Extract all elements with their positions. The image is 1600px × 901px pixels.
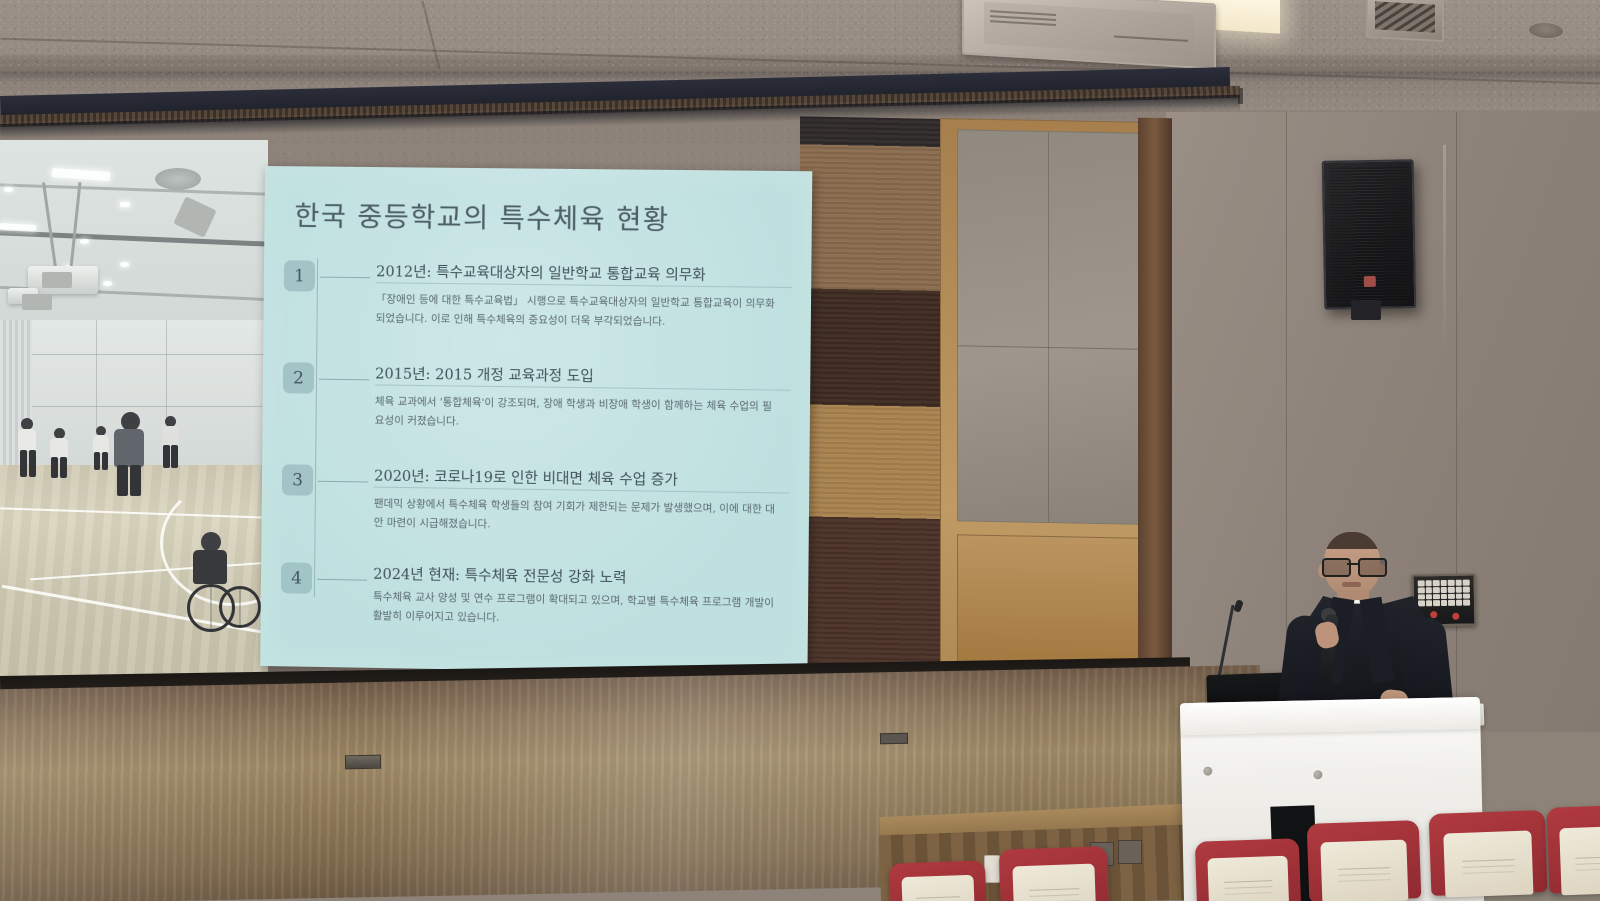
acoustic-panel: [957, 129, 1139, 524]
gym-spot-light: [80, 239, 89, 244]
acoustic-panel-frame: [940, 118, 1152, 679]
gym-student: [92, 426, 112, 470]
wheelchair-wheel: [219, 586, 261, 628]
timeline-axis: [314, 259, 318, 597]
wheelchair-user-head: [201, 532, 221, 552]
student-torso: [162, 426, 179, 446]
student-leg: [94, 452, 100, 470]
timeline-body-3: 팬데믹 상황에서 특수체육 학생들의 참여 기회가 제한되는 문제가 발생했으며…: [374, 495, 780, 540]
auditorium-seat[interactable]: [1547, 804, 1600, 893]
wall-cable: [1443, 145, 1446, 345]
seat-backrest[interactable]: [999, 846, 1109, 901]
glasses-lens: [1358, 558, 1387, 577]
student-torso: [93, 435, 109, 453]
projected-slide: 한국 중등학교의 특수체육 현황 1 2012년: 특수교육대상자의 일반학교 …: [260, 166, 812, 675]
glasses-lens: [1322, 558, 1351, 577]
control-button[interactable]: [1463, 586, 1470, 592]
timeline-body-4: 특수체육 교사 양성 및 연수 프로그램이 확대되고 있으며, 학교별 특수체육…: [373, 588, 779, 634]
seat-cushion[interactable]: [1208, 855, 1289, 901]
timeline-connector: [320, 277, 370, 279]
seat-backrest[interactable]: [1307, 820, 1422, 901]
gym-wall-seam: [30, 354, 268, 355]
stage-floor-plate: [345, 755, 381, 770]
student-leg: [60, 457, 67, 478]
auditorium-seat[interactable]: [999, 846, 1109, 901]
seat-cushion[interactable]: [1321, 839, 1408, 901]
glasses-bridge: [1347, 563, 1358, 565]
gym-student: [160, 416, 182, 468]
timeline-item: 2 2015년: 2015 개정 교육과정 도입 체육 교과에서 '통합체육'이…: [283, 362, 787, 368]
seat-cushion[interactable]: [1559, 825, 1600, 895]
stage-floor-plate: [880, 733, 908, 744]
gym-wall-seam: [30, 406, 268, 407]
student-leg: [163, 445, 170, 468]
control-button[interactable]: [1463, 593, 1470, 599]
timeline-item: 3 2020년: 코로나19로 인한 비대면 체육 수업 증가 팬데믹 상황에서…: [282, 464, 786, 471]
timeline-heading-4: 2024년 현재: 특수체육 전문성 강화 노력: [373, 563, 627, 588]
teacher-leg: [117, 465, 128, 496]
timeline-badge-1: 1: [284, 260, 315, 291]
podium-fastener: [1313, 770, 1322, 779]
timeline-body-1: 「장애인 등에 대한 특수교육법」 시행으로 특수교육대상자의 일반학교 통합교…: [376, 290, 782, 334]
podium-fastener: [1203, 767, 1212, 776]
floor-power-outlet: [984, 855, 1000, 883]
seat-backrest[interactable]: [1195, 838, 1301, 901]
timeline-connector: [318, 481, 368, 483]
student-leg: [51, 457, 58, 478]
student-torso: [50, 438, 68, 458]
wood-trim-strip: [1138, 118, 1172, 679]
ac-inner-panel: [984, 2, 1194, 56]
seat-backrest[interactable]: [889, 860, 987, 901]
timeline-body-2: 체육 교과에서 '통합체육'이 강조되며, 장애 학생과 비장애 학생이 함께하…: [375, 392, 781, 436]
student-leg: [20, 450, 27, 477]
panel-base: [957, 534, 1139, 669]
stage-wall-box: [1118, 840, 1142, 864]
gym-spot-light: [120, 262, 129, 267]
gym-student: [48, 428, 72, 478]
gym-ceiling-light: [120, 202, 130, 207]
timeline-item: 1 2012년: 특수교육대상자의 일반학교 통합교육 의무화 「장애인 등에 …: [284, 260, 788, 266]
timeline-badge-3: 3: [282, 464, 313, 495]
student-leg: [102, 452, 108, 470]
speaker-logo: [1364, 276, 1376, 287]
loudspeaker: [1322, 159, 1417, 310]
gym-ceiling-projector: [8, 288, 38, 304]
slide-title: 한국 중등학교의 특수체육 현황: [294, 194, 669, 237]
ceiling-vent: [1366, 0, 1444, 42]
timeline-heading-1: 2012년: 특수교육대상자의 일반학교 통합교육 의무화: [376, 260, 706, 285]
eyeglasses-icon: [1322, 558, 1383, 573]
timeline-heading-2: 2015년: 2015 개정 교육과정 도입: [375, 362, 594, 386]
control-button[interactable]: [1463, 600, 1470, 606]
auditorium-seat[interactable]: [1307, 820, 1422, 901]
control-button[interactable]: [1463, 580, 1470, 586]
timeline-connector: [319, 379, 369, 381]
seat-cushion[interactable]: [901, 875, 976, 901]
gym-ceiling-projector: [28, 266, 98, 294]
seat-backrest[interactable]: [1547, 804, 1600, 893]
gymnasium-photo-projection: [0, 140, 268, 680]
timeline-connector: [317, 579, 367, 581]
auditorium-seat[interactable]: [1429, 810, 1548, 896]
timeline-badge-2: 2: [283, 362, 314, 393]
teacher-leg: [130, 465, 141, 496]
student-leg: [171, 445, 178, 468]
gym-student: [16, 418, 40, 478]
gym-spot-light: [4, 187, 13, 192]
speaker-mount-bracket: [1351, 300, 1381, 320]
seat-backrest[interactable]: [1429, 810, 1548, 896]
presenter-mouth: [1342, 582, 1361, 587]
student-torso: [18, 429, 36, 451]
auditorium-scene: 한국 중등학교의 특수체육 현황 1 2012년: 특수교육대상자의 일반학교 …: [0, 0, 1600, 901]
gym-ceiling-fan: [155, 168, 201, 190]
seat-cushion[interactable]: [1012, 863, 1096, 901]
student-leg: [29, 450, 36, 477]
timeline-item: 4 2024년 현재: 특수체육 전문성 강화 노력 특수체육 교사 양성 및 …: [281, 562, 785, 570]
wheelchair-user: [185, 580, 245, 630]
timeline-badge-4: 4: [281, 562, 312, 594]
gym-spot-light: [103, 281, 112, 286]
teacher-torso: [114, 429, 144, 467]
wheelchair-user-torso: [193, 550, 227, 584]
podium-top-lip: [1180, 697, 1481, 735]
auditorium-seat[interactable]: [889, 860, 987, 901]
gym-teacher: [112, 412, 146, 496]
auditorium-seat[interactable]: [1195, 838, 1301, 901]
seat-cushion[interactable]: [1443, 830, 1533, 897]
timeline-heading-3: 2020년: 코로나19로 인한 비대면 체육 수업 증가: [374, 465, 678, 490]
